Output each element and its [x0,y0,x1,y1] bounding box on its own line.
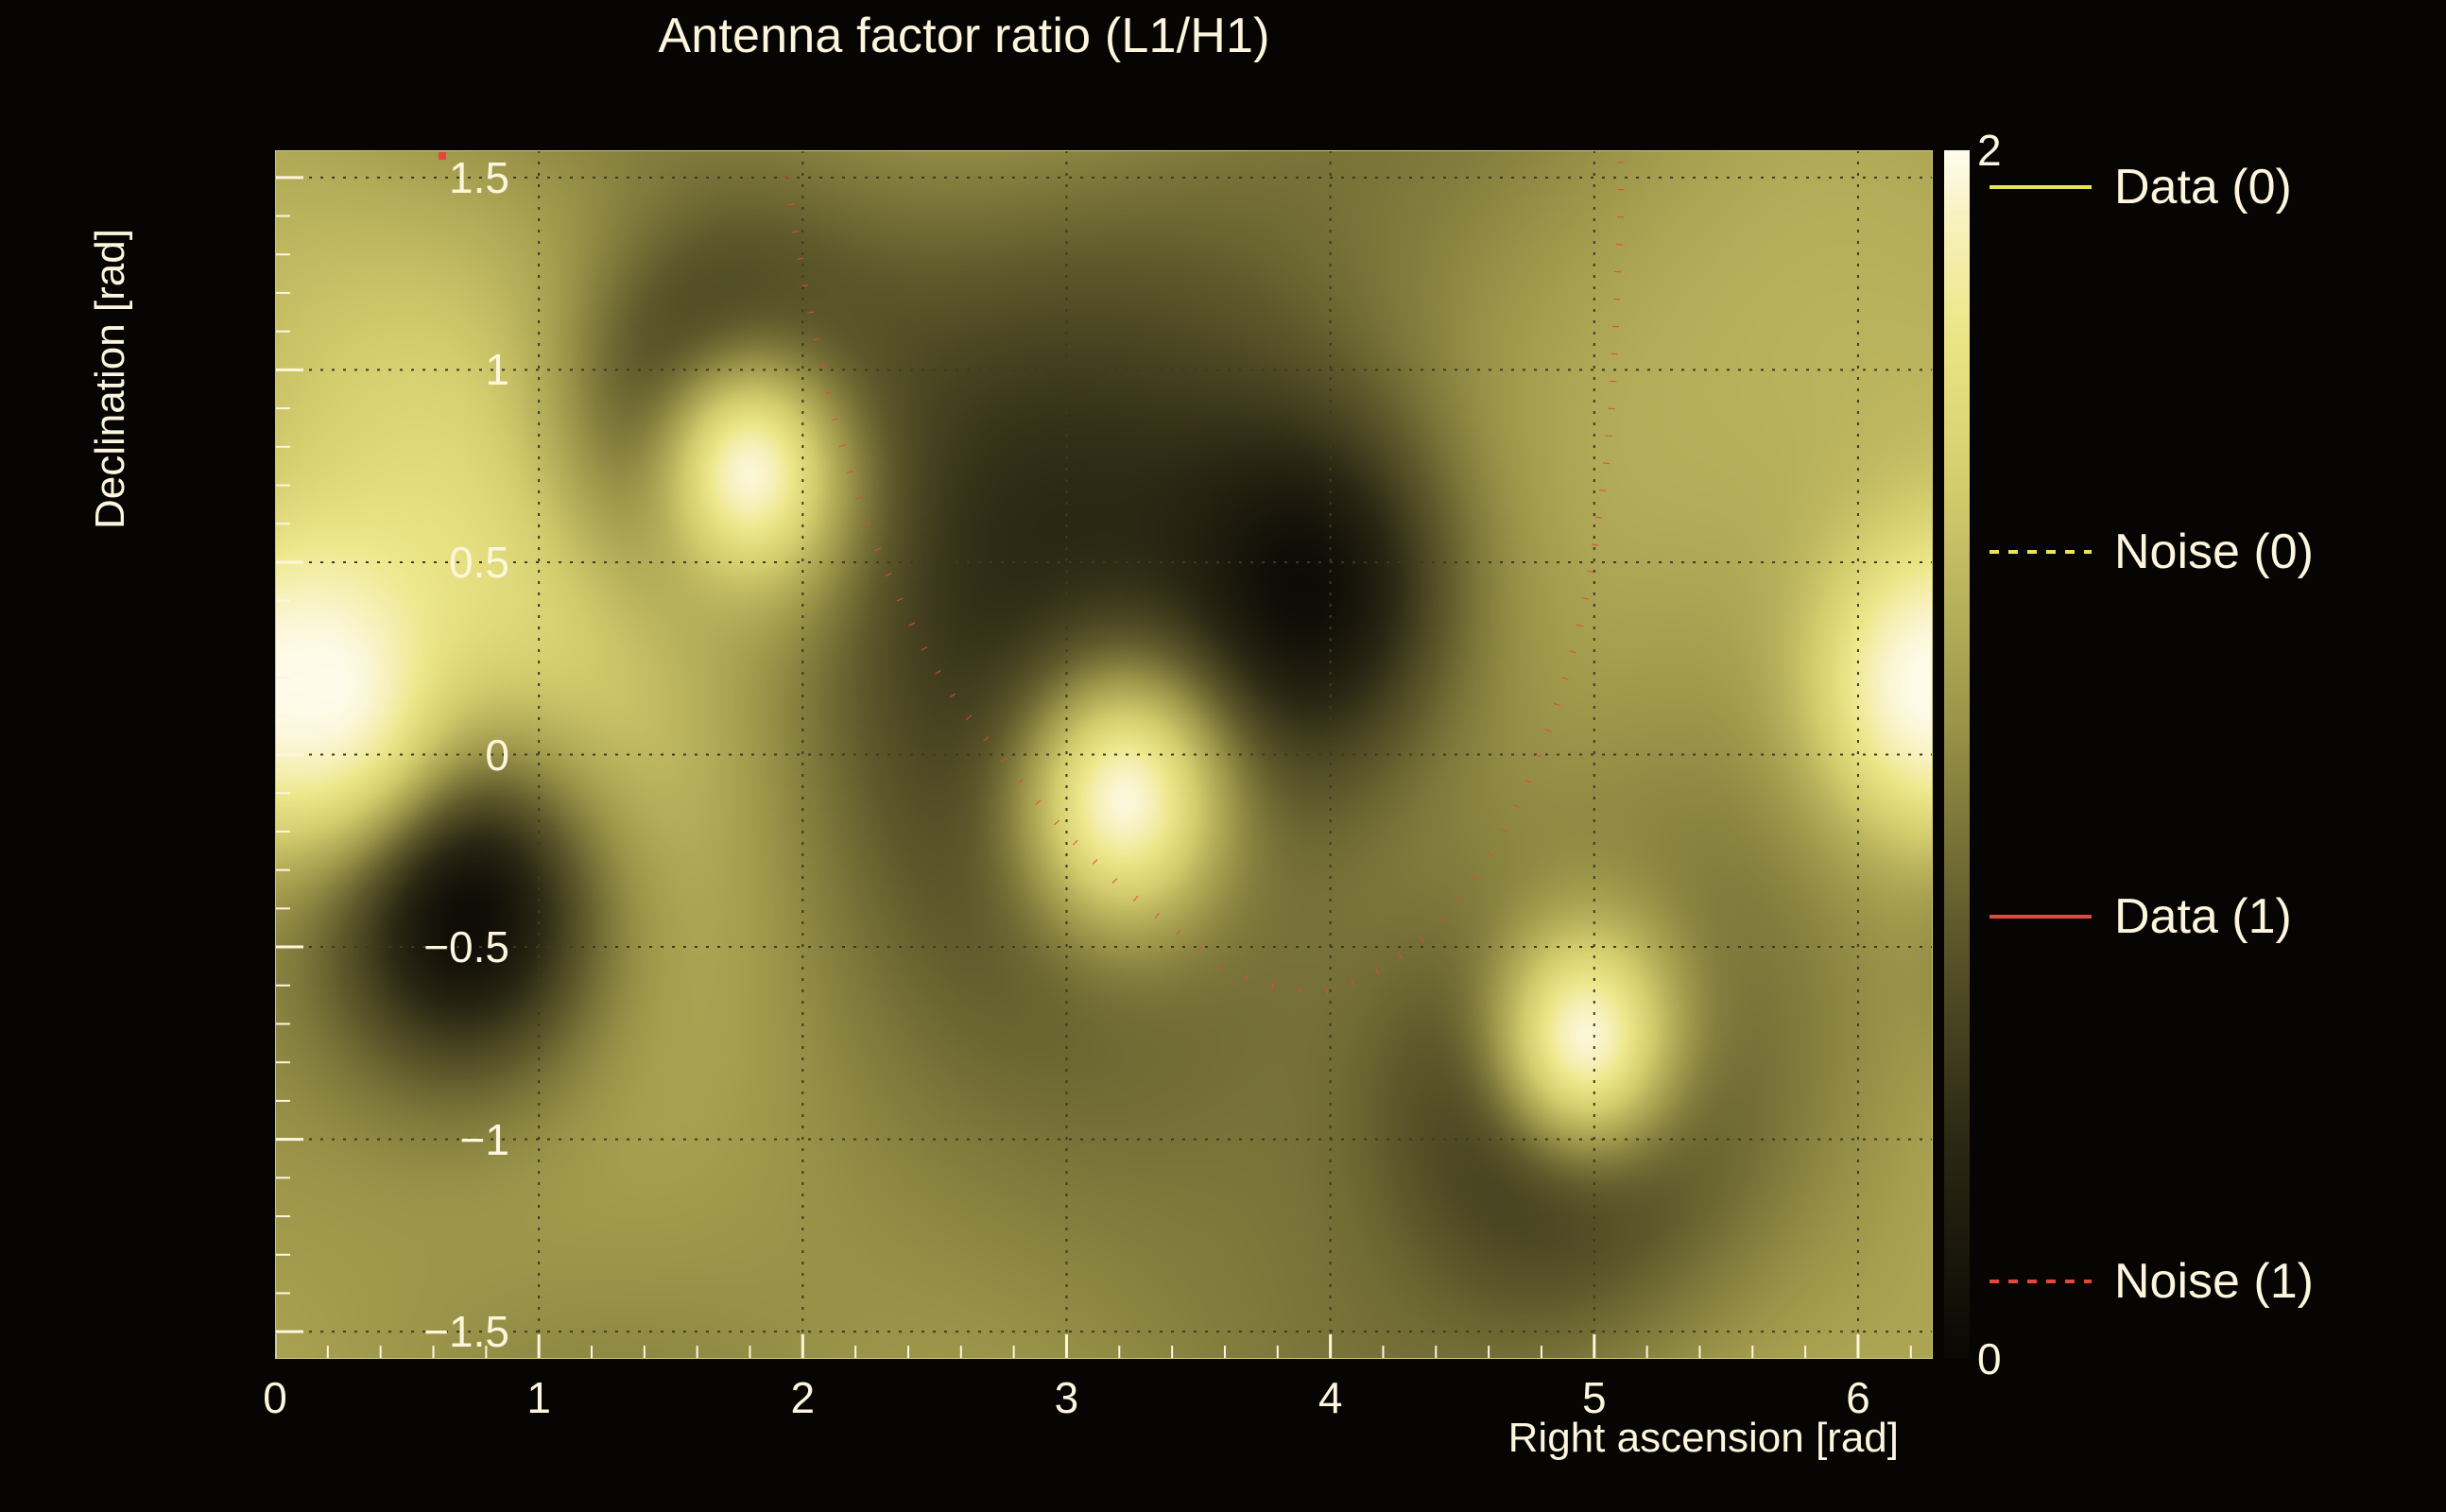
legend-label: Data (1) [2114,892,2292,941]
legend-line-marker-solid [1990,915,2092,919]
y-tick-label: 1 [485,344,509,395]
legend-entry[interactable]: Data (0) [1990,157,2292,217]
heatmap-plot-area [275,150,1933,1359]
legend-label: Noise (1) [2114,1257,2314,1306]
y-tick-label: −0.5 [423,921,509,972]
legend-entry[interactable]: Data (1) [1990,886,2292,947]
y-tick-label: 1.5 [449,152,509,203]
legend-line-marker-solid [1990,185,2092,189]
y-axis-title: Declination [rad] [87,229,134,529]
legend-entry[interactable]: Noise (0) [1990,522,2314,582]
overlay-curve-noise-1 [275,150,1933,1359]
legend: Data (0)Noise (0)Data (1)Noise (1) [1990,151,2434,1361]
colorbar [1944,150,1970,1359]
page-title: Antenna factor ratio (L1/H1) [0,8,1928,64]
curve-noise-1- [782,150,1621,993]
plot-canvas: Antenna factor ratio (L1/H1) 1.510.50−0.… [0,0,2446,1512]
y-tick-label: −1 [460,1114,509,1165]
legend-label: Noise (0) [2114,527,2314,576]
colorbar-gradient [1944,150,1970,1359]
y-tick-label: 0 [485,730,509,781]
legend-entry[interactable]: Noise (1) [1990,1251,2314,1312]
curve-point-marker [439,152,446,160]
x-axis-title: Right ascension [rad] [0,1415,1933,1462]
y-tick-label: 0.5 [449,537,509,588]
legend-line-marker-dotted [1990,550,2092,554]
legend-label: Data (0) [2114,163,2292,212]
y-tick-label: −1.5 [423,1306,509,1357]
legend-line-marker-dotted [1990,1280,2092,1283]
